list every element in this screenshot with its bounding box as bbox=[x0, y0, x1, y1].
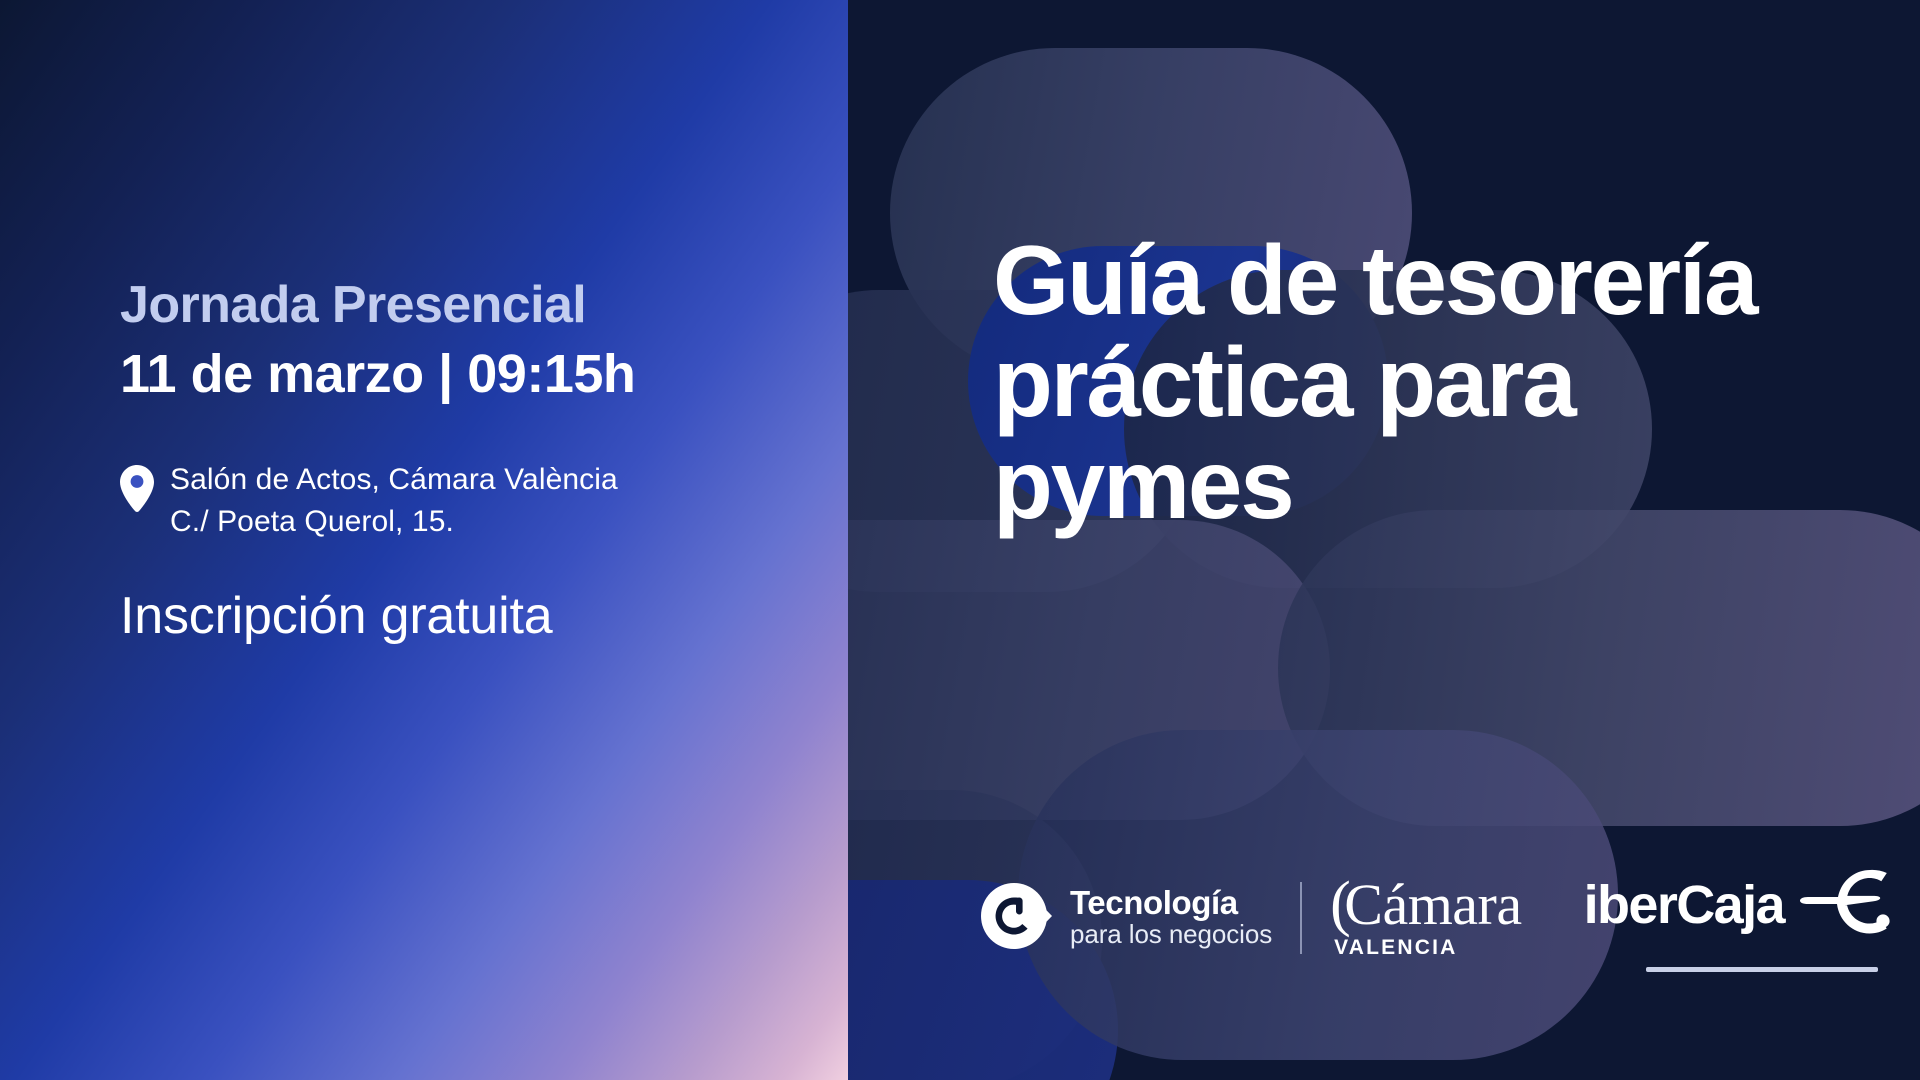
camara-subtitle: VALENCIA bbox=[1334, 936, 1457, 960]
event-location: Salón de Actos, Cámara València C./ Poet… bbox=[120, 459, 800, 544]
tecnologia-line-1: Tecnología bbox=[1070, 886, 1272, 920]
logo-ibercaja: iberCaja bbox=[1584, 864, 1892, 972]
location-line-1: Salón de Actos, Cámara València bbox=[170, 459, 618, 502]
ibercaja-wordmark: iberCaja bbox=[1584, 878, 1784, 932]
tecnologia-wordmark: Tecnología para los negocios bbox=[1070, 886, 1272, 950]
ibercaja-underline-rule bbox=[1646, 967, 1878, 972]
circle-c-chevron-icon bbox=[978, 877, 1056, 960]
logo-camara-valencia: ( Cámara VALENCIA bbox=[1330, 876, 1522, 959]
location-line-2: C./ Poeta Querol, 15. bbox=[170, 501, 618, 544]
ibercaja-main-row: iberCaja bbox=[1584, 864, 1892, 945]
sponsor-logo-row: Tecnología para los negocios ( Cámara VA… bbox=[978, 864, 1892, 972]
logo-vertical-divider bbox=[1300, 882, 1302, 954]
page-title: Guía de tesorería práctica para pymes bbox=[993, 230, 1893, 536]
right-title-panel: Guía de tesorería práctica para pymes Te… bbox=[848, 0, 1920, 1080]
euro-swash-icon bbox=[1800, 864, 1892, 945]
camara-word-text: Cámara bbox=[1344, 877, 1521, 934]
event-datetime: 11 de marzo | 09:15h bbox=[120, 344, 800, 404]
camara-wordmark: ( Cámara bbox=[1330, 876, 1522, 933]
event-type-kicker: Jornada Presencial bbox=[120, 276, 800, 334]
logo-tecnologia-para-los-negocios: Tecnología para los negocios bbox=[978, 877, 1272, 960]
left-info-panel: Jornada Presencial 11 de marzo | 09:15h … bbox=[0, 0, 848, 1080]
location-text-block: Salón de Actos, Cámara València C./ Poet… bbox=[170, 459, 618, 544]
right-panel-content: Guía de tesorería práctica para pymes Te… bbox=[848, 0, 1920, 1080]
map-pin-icon bbox=[120, 465, 154, 513]
event-details-block: Jornada Presencial 11 de marzo | 09:15h … bbox=[120, 276, 800, 645]
registration-note: Inscripción gratuita bbox=[120, 588, 800, 645]
event-banner: Jornada Presencial 11 de marzo | 09:15h … bbox=[0, 0, 1920, 1080]
tecnologia-line-2: para los negocios bbox=[1070, 919, 1272, 950]
